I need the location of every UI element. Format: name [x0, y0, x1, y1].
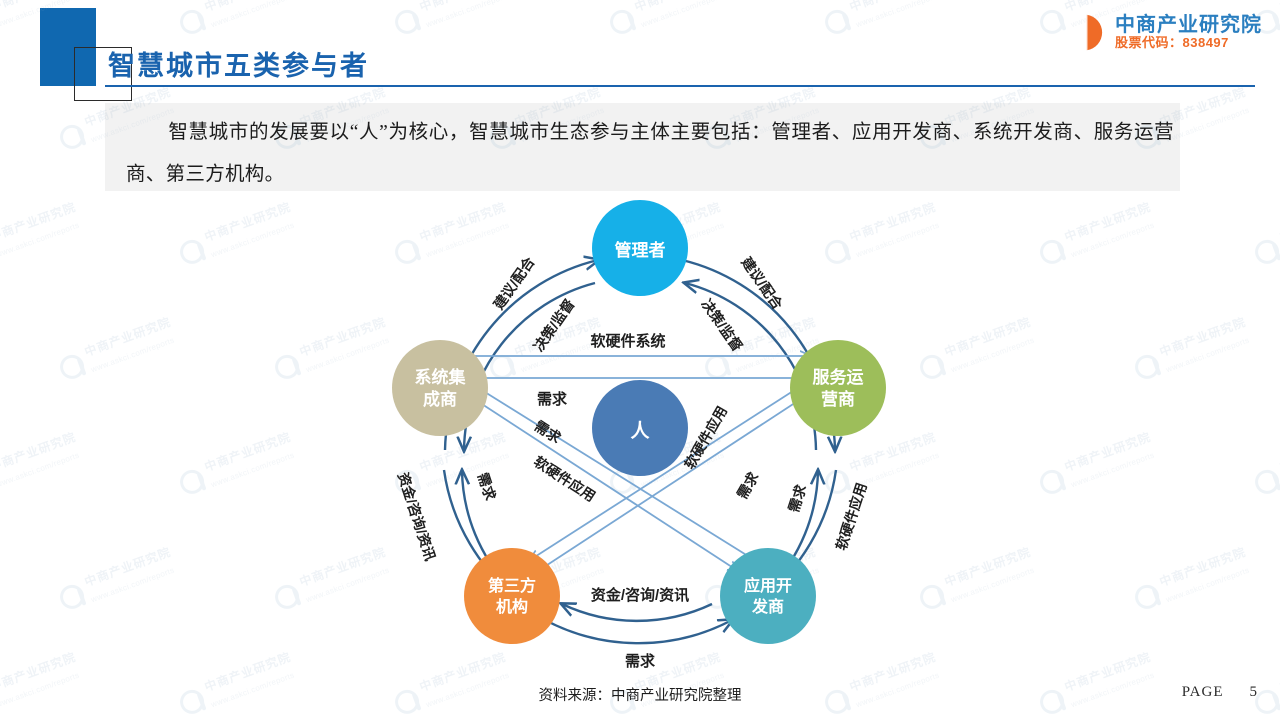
node-thirdparty-label-2: 机构 [496, 597, 528, 616]
brand-logo: 中商产业研究院 股票代码：838497 [1063, 11, 1262, 54]
watermark-tile: 中商产业研究院www.askci.com/reports [175, 0, 299, 42]
node-thirdparty-label-1: 第三方 [488, 576, 536, 595]
watermark-tile: 中商产业研究院www.askci.com/reports [1130, 544, 1254, 617]
node-integrator-label-2: 成商 [423, 389, 457, 409]
node-center-label: 人 [630, 420, 650, 442]
watermark-tile: 中商产业研究院www.askci.com/reports [1250, 199, 1280, 272]
page-title: 智慧城市五类参与者 [108, 44, 369, 83]
edge-label-mid-top: 软硬件系统 [590, 332, 665, 350]
page-indicator: PAGE5 [1182, 684, 1258, 701]
logo-stock-code: 股票代码：838497 [1115, 36, 1262, 51]
watermark-tile: 中商产业研究院www.askci.com/reports [605, 0, 729, 42]
node-operator [790, 340, 886, 436]
edge-label-tr-inner: 决策/监督 [698, 296, 745, 354]
edge-label-tl-inner: 决策/监督 [530, 296, 577, 354]
watermark-tile: 中商产业研究院www.askci.com/reports [55, 314, 179, 387]
node-thirdparty [464, 548, 560, 644]
node-appdev-label-2: 发商 [751, 597, 784, 616]
body-paragraph-text: 智慧城市的发展要以“人”为核心，智慧城市生态参与主体主要包括：管理者、应用开发商… [126, 122, 1174, 185]
edge-label-tr-outer: 建议/配合 [738, 254, 786, 313]
watermark-tile: 中商产业研究院www.askci.com/reports [1130, 314, 1254, 387]
page-number: 5 [1250, 684, 1259, 701]
edge-label-right-inner: 需求 [785, 482, 809, 515]
watermark-tile: 中商产业研究院www.askci.com/reports [1035, 199, 1159, 272]
edge-label-left-inner: 需求 [475, 471, 499, 504]
node-operator-label-2: 营商 [821, 389, 855, 409]
watermark-tile: 中商产业研究院www.askci.com/reports [175, 199, 299, 272]
node-integrator-label-1: 系统集 [415, 367, 467, 387]
edge-label-bottom-outer: 需求 [625, 652, 656, 668]
watermark-tile: 中商产业研究院www.askci.com/reports [1035, 429, 1159, 502]
title-underline [105, 85, 1255, 87]
edge-thirdparty-to-appdev-outer [545, 620, 732, 643]
edge-appdev-to-thirdparty-inner [562, 604, 712, 621]
watermark-tile: 中商产业研究院www.askci.com/reports [390, 0, 514, 42]
edge-label-diag-left-upper: 需求 [532, 417, 565, 446]
watermark-tile: 中商产业研究院www.askci.com/reports [0, 429, 84, 502]
edge-label-right-outer: 软硬件应用 [833, 481, 870, 553]
edge-label-diag-right-lower: 需求 [734, 469, 762, 502]
source-note: 资料来源：中商产业研究院整理 [0, 684, 1280, 705]
company-logo-icon [1063, 11, 1106, 54]
edge-label-left-outer: 资金/咨询/资讯 [395, 470, 439, 562]
node-manager-label: 管理者 [615, 240, 666, 260]
body-paragraph: 智慧城市的发展要以“人”为核心，智慧城市生态参与主体主要包括：管理者、应用开发商… [126, 112, 1174, 196]
node-integrator [392, 340, 488, 436]
edge-label-bottom-inner: 资金/咨询/资讯 [591, 586, 689, 604]
watermark-tile: 中商产业研究院www.askci.com/reports [0, 199, 84, 272]
slide: 中商产业研究院www.askci.com/reports中商产业研究院www.a… [0, 0, 1280, 720]
edge-label-mid-bottom: 需求 [537, 390, 568, 408]
node-appdev-label-1: 应用开 [744, 576, 792, 595]
edge-label-diag-left-lower: 软硬件应用 [531, 453, 598, 505]
page-label: PAGE [1182, 684, 1224, 700]
node-operator-label-1: 服务运 [813, 367, 864, 387]
logo-company-name: 中商产业研究院 [1115, 14, 1262, 36]
watermark-tile: 中商产业研究院www.askci.com/reports [1250, 429, 1280, 502]
watermark-tile: 中商产业研究院www.askci.com/reports [175, 429, 299, 502]
watermark-tile: 中商产业研究院www.askci.com/reports [55, 544, 179, 617]
node-appdev [720, 548, 816, 644]
participants-diagram: 管理者 服务运 营商 系统集 成商 第三方 机构 应用开 发商 人 建议/配合 … [340, 188, 940, 668]
watermark-tile: 中商产业研究院www.askci.com/reports [820, 0, 944, 42]
